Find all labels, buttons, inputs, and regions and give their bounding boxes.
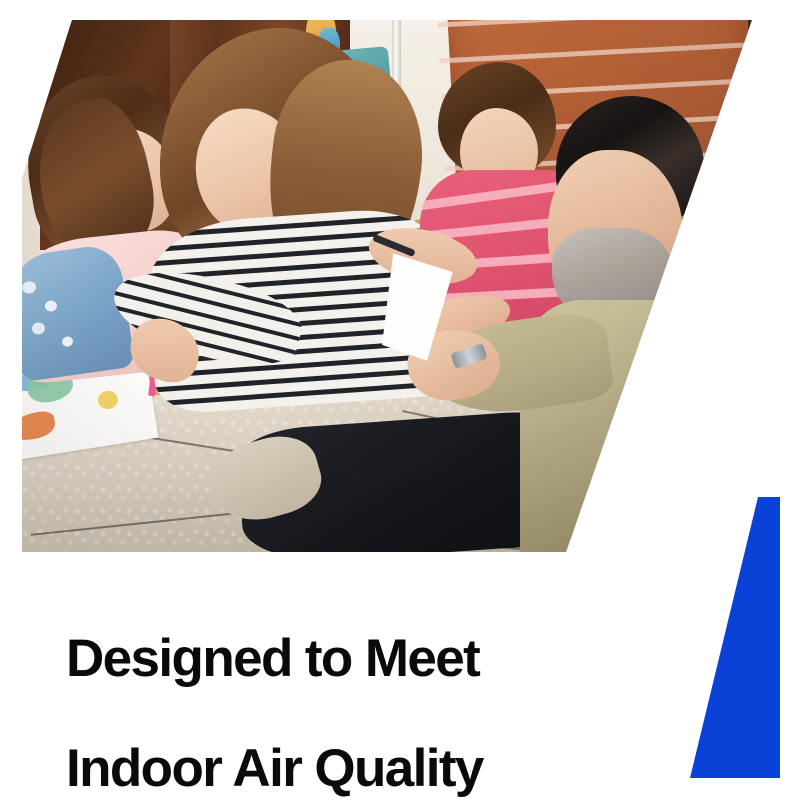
banner: Designed to Meet Indoor Air Quality Emis… bbox=[0, 0, 800, 800]
photo-canvas bbox=[0, 0, 800, 560]
headline-line-2: Indoor Air Quality bbox=[66, 741, 686, 796]
headline-line-1: Designed to Meet bbox=[66, 631, 686, 686]
page-title: Designed to Meet Indoor Air Quality Emis… bbox=[66, 576, 686, 800]
hero-photo bbox=[0, 0, 800, 560]
photo-vignette bbox=[0, 0, 800, 560]
